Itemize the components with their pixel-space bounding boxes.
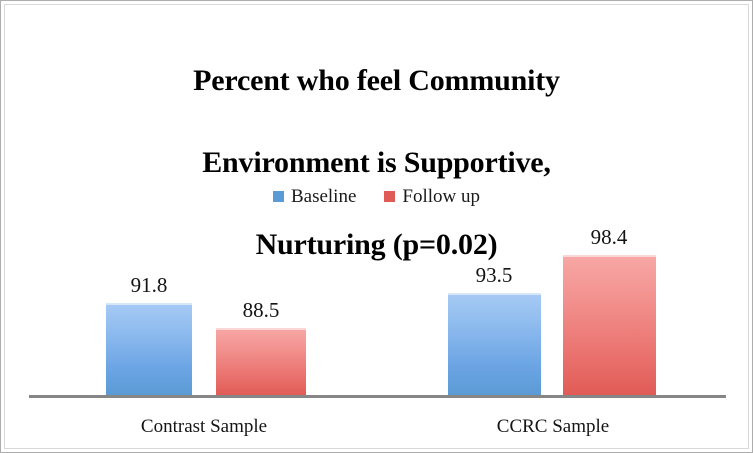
legend-entry-baseline[interactable]: Baseline — [273, 187, 356, 206]
legend-swatch-baseline-icon — [273, 191, 284, 202]
chart-container: Percent who feel Community Environment i… — [0, 0, 753, 453]
chart-legend: Baseline Follow up — [1, 187, 752, 206]
legend-label-followup: Follow up — [402, 187, 480, 206]
legend-swatch-followup-icon — [384, 191, 395, 202]
chart-title: Percent who feel Community Environment i… — [1, 19, 752, 306]
chart-title-line-1: Percent who feel Community — [1, 60, 752, 101]
chart-title-line-2: Environment is Supportive, — [1, 142, 752, 183]
legend-entry-followup[interactable]: Follow up — [384, 187, 480, 206]
legend-label-baseline: Baseline — [291, 187, 356, 206]
chart-title-line-3: Nurturing (p=0.02) — [1, 224, 752, 265]
